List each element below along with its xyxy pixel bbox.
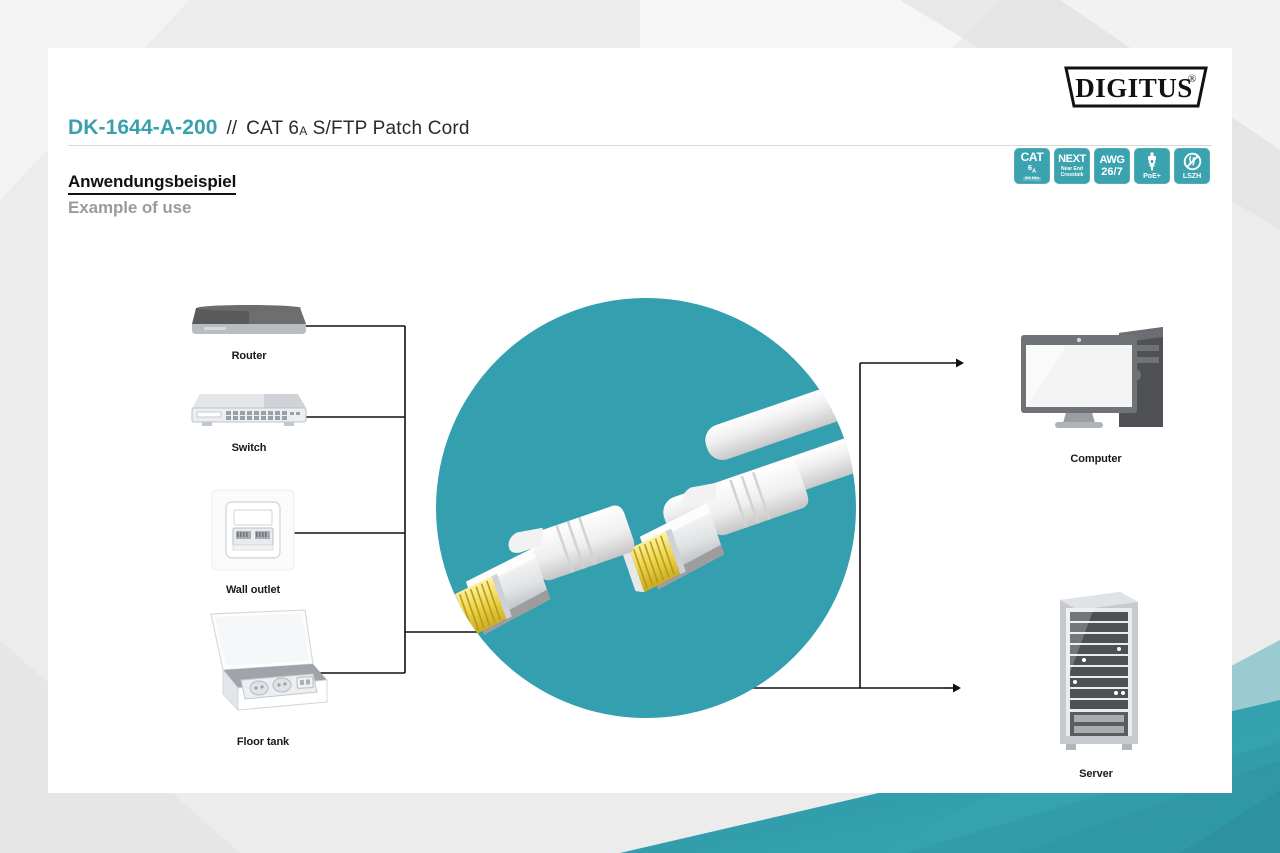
node-label-router: Router [181,350,317,362]
brand-logo: DIGITUS ® [1062,64,1210,115]
title-divider [68,145,1212,146]
badge-next-line1: Near End [1061,167,1083,172]
node-router[interactable]: Router [181,298,317,362]
switch-icon [186,388,312,432]
badge-next-main: NEXT [1058,154,1086,165]
badge-lszh: LSZH [1174,148,1210,184]
node-label-switch: Switch [181,442,317,454]
patch-cord-illustration [426,298,866,718]
node-floor-tank[interactable]: Floor tank [188,606,338,748]
node-switch[interactable]: Switch [181,388,317,454]
plug-icon [1144,152,1160,171]
node-computer[interactable]: Computer [1008,323,1184,465]
no-smoke-icon [1183,152,1202,171]
badge-awg-line2: 26/7 [1101,167,1122,178]
computer-icon [1011,323,1181,443]
wall-outlet-icon [204,486,302,574]
badge-poe: PoE+ [1134,148,1170,184]
node-wall-outlet[interactable]: Wall outlet [185,486,321,596]
router-icon [186,298,312,340]
floor-tank-icon [193,606,333,726]
server-icon [1046,588,1146,758]
product-title-row: DK-1644-A-200 // CAT 6A S/FTP Patch Cord [68,116,470,140]
content-card: DIGITUS ® DK-1644-A-200 // CAT 6A S/FTP … [48,48,1232,793]
node-label-server: Server [1028,768,1164,780]
badge-poe-label: PoE+ [1143,173,1161,180]
product-name-prefix: CAT 6 [246,118,299,139]
badge-cat-footnote: 500 MHz [1023,177,1041,182]
digitus-logo-icon: DIGITUS ® [1062,64,1210,110]
badge-awg: AWG 26/7 [1094,148,1130,184]
registered-mark: ® [1188,73,1196,85]
title-separator: // [227,118,238,140]
patch-cord-showcase [426,298,866,718]
product-sku: DK-1644-A-200 [68,116,218,140]
product-name: CAT 6A S/FTP Patch Cord [246,118,470,140]
badge-cat-sub-letter: A [1032,168,1036,174]
badge-next-line2: Crosstalk [1061,173,1084,178]
badge-cat-sub: 6A [1028,164,1036,175]
application-diagram: Router [48,238,1232,778]
badge-next: NEXT Near End Crosstalk [1054,148,1090,184]
logo-text: DIGITUS [1075,73,1193,103]
node-label-wall-outlet: Wall outlet [185,584,321,596]
node-server[interactable]: Server [1028,588,1164,780]
section-heading-german: Anwendungsbeispiel [68,172,236,195]
product-name-subscript: A [299,124,307,138]
section-heading-english: Example of use [68,198,191,218]
node-label-floor-tank: Floor tank [188,736,338,748]
badge-awg-line1: AWG [1099,155,1124,166]
badge-cat-main: CAT [1021,151,1044,163]
badge-cat6a: CAT 6A 500 MHz [1014,148,1050,184]
node-label-computer: Computer [1008,453,1184,465]
feature-badge-group: CAT 6A 500 MHz NEXT Near End Crosstalk A… [1014,148,1210,184]
product-name-suffix: S/FTP Patch Cord [307,118,470,139]
badge-lszh-label: LSZH [1183,173,1201,180]
